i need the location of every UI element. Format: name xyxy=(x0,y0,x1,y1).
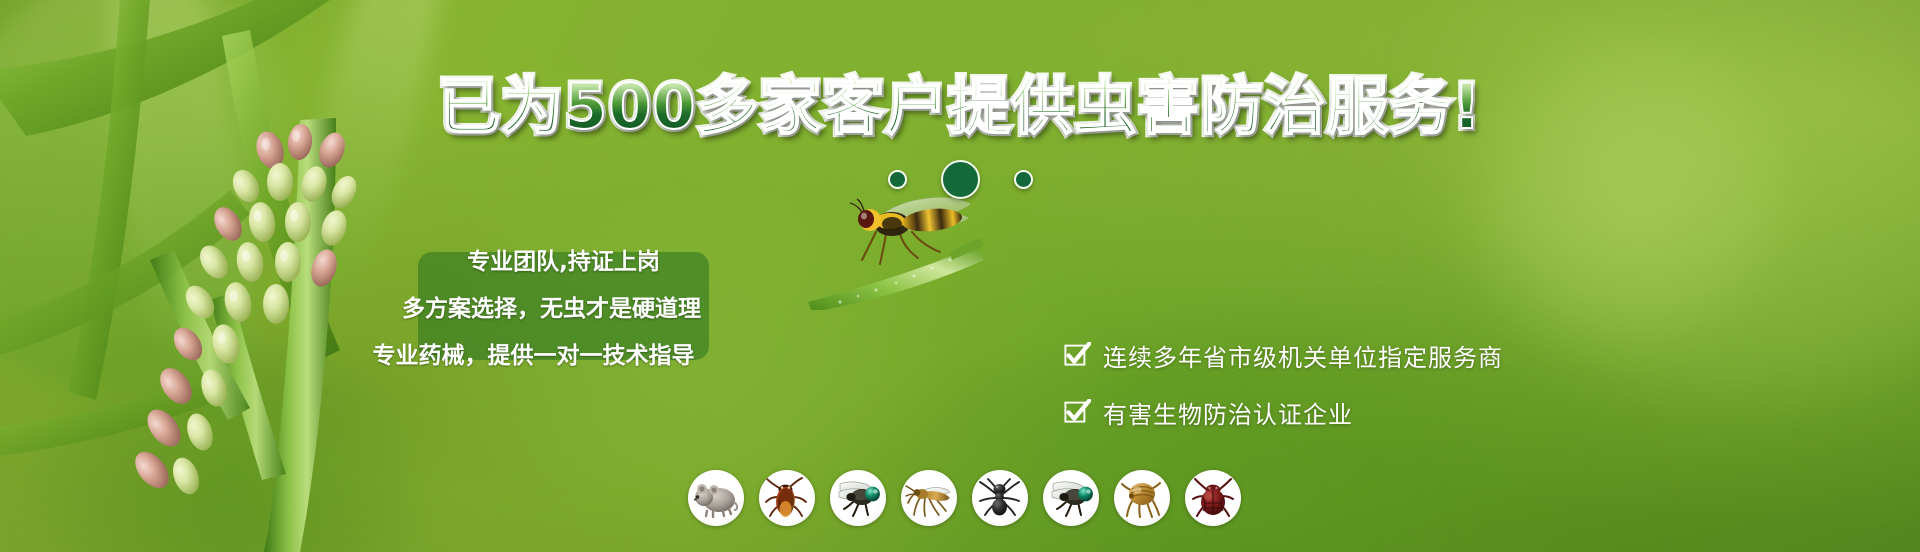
hoverfly-on-leaf-image xyxy=(800,190,1020,310)
page-title: 已为500多家客户提供虫害防治服务! xyxy=(0,76,1920,138)
selling-point-line-3: 专业药械，提供一对一技术指导 xyxy=(373,336,695,370)
selling-point-line-2: 多方案选择，无虫才是硬道理 xyxy=(402,289,701,323)
certification-feature-list: 连续多年省市级机关单位指定服务商 有害生物防治认证企业 xyxy=(1064,338,1503,452)
decor-dot-small-left xyxy=(888,170,907,189)
pest-type-icon-strip xyxy=(688,470,1241,526)
mouse-icon[interactable] xyxy=(688,470,744,526)
decor-dot-small-right xyxy=(1014,170,1033,189)
cockroach-icon[interactable] xyxy=(759,470,815,526)
decor-dots xyxy=(0,160,1920,199)
checkbox-checked-icon xyxy=(1064,399,1091,426)
feature-item: 连续多年省市级机关单位指定服务商 xyxy=(1064,338,1503,373)
feature-label: 连续多年省市级机关单位指定服务商 xyxy=(1103,338,1503,373)
selling-points-text: 专业团队,持证上岗 多方案选择，无虫才是硬道理 专业药械，提供一对一技术指导 xyxy=(418,252,709,360)
mosquito-icon[interactable] xyxy=(901,470,957,526)
checkbox-checked-icon xyxy=(1064,342,1091,369)
fly-icon[interactable] xyxy=(830,470,886,526)
feature-item: 有害生物防治认证企业 xyxy=(1064,395,1503,430)
fly-icon[interactable] xyxy=(1043,470,1099,526)
ant-icon[interactable] xyxy=(972,470,1028,526)
feature-label: 有害生物防治认证企业 xyxy=(1103,395,1353,430)
flea-icon[interactable] xyxy=(1114,470,1170,526)
decor-dot-large-center xyxy=(941,160,980,199)
pest-control-promo-banner: 已为500多家客户提供虫害防治服务! 已为500多家客户提供虫害防治服务! 专业… xyxy=(0,0,1920,552)
bedbug-icon[interactable] xyxy=(1185,470,1241,526)
selling-point-line-1: 专业团队,持证上岗 xyxy=(467,242,660,276)
